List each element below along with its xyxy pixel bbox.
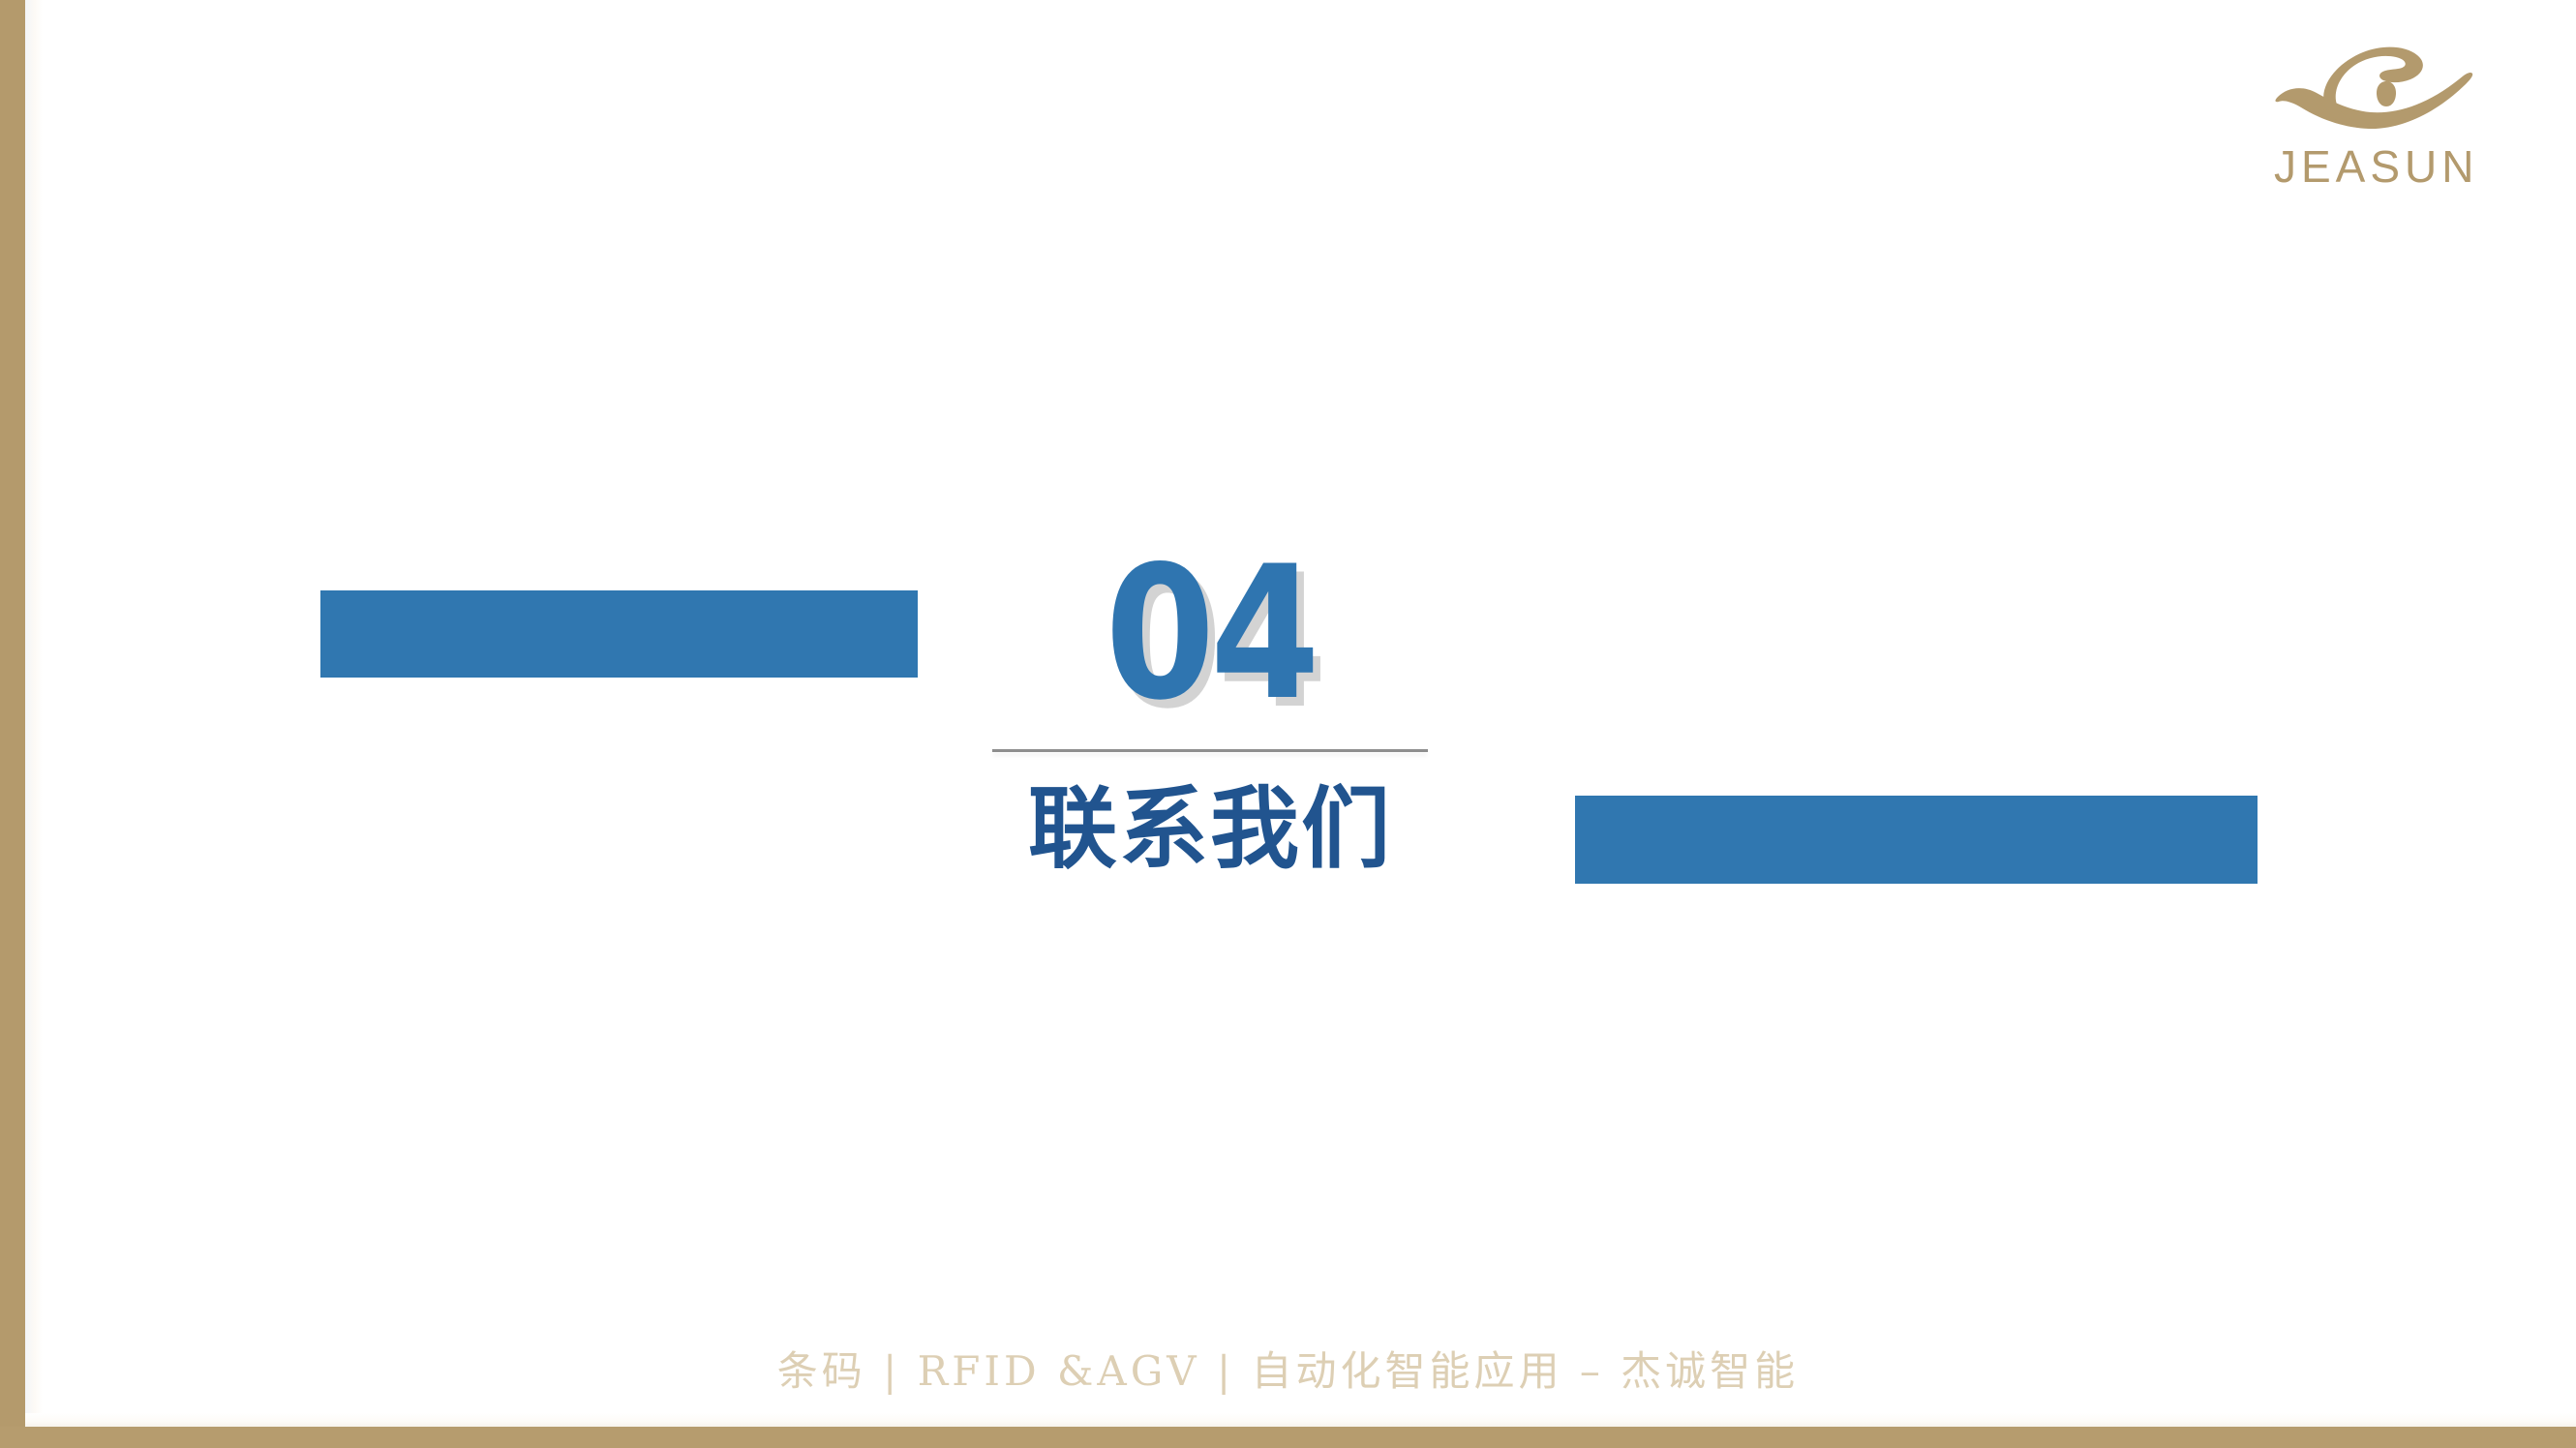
page-title: 联系我们: [987, 779, 1433, 880]
frame-inner-glow-bottom: [25, 1413, 2576, 1427]
jeasun-swoosh-icon: [2274, 37, 2475, 141]
frame-border-bottom: [0, 1427, 2576, 1448]
right-accent-bar: [1575, 796, 2258, 884]
left-accent-bar: [320, 590, 918, 678]
footer-tagline: 条码 | RFID &AGV | 自动化智能应用 – 杰诚智能: [0, 1347, 2576, 1396]
company-logo: JEASUN: [2274, 37, 2475, 192]
section-number: 04: [1018, 542, 1402, 726]
title-divider: [992, 749, 1428, 752]
frame-inner-glow-left: [25, 0, 43, 1427]
slide-canvas: JEASUN 04 联系我们 条码 | RFID &AGV | 自动化智能应用 …: [0, 0, 2576, 1448]
section-heading-block: 04 联系我们: [987, 542, 1433, 900]
frame-border-left: [0, 0, 25, 1448]
logo-wordmark: JEASUN: [2274, 141, 2475, 192]
